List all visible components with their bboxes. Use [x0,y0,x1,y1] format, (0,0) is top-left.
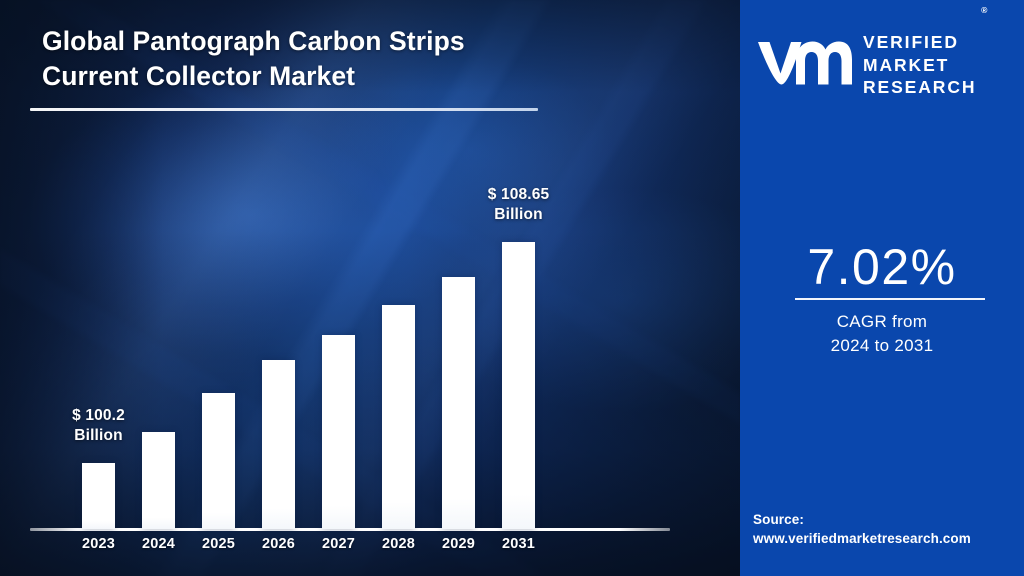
x-axis-tick-2029: 2029 [429,536,489,552]
value-label-2023: $ 100.2 Billion [37,406,161,447]
bar-2028 [382,305,415,529]
x-axis-tick-2023: 2023 [69,536,129,552]
bar-2026 [262,360,295,529]
bar-2031 [502,242,535,529]
brand-panel-text-layer: CAGR from 2024 to 2031 Source: www.verif… [740,0,1024,576]
bar-2027 [322,335,355,529]
bar-2025 [202,393,235,529]
bar-2023 [82,463,115,529]
bar-2029 [442,277,475,529]
cagr-caption: CAGR from 2024 to 2031 [740,310,1024,358]
x-axis-tick-2031: 2031 [489,536,549,552]
x-axis-tick-2026: 2026 [249,536,309,552]
chart-panel: Global Pantograph Carbon Strips Current … [0,0,740,576]
x-axis-tick-2027: 2027 [309,536,369,552]
source-text: Source: www.verifiedmarketresearch.com [753,511,1021,549]
bar-chart: 20232024202520262027202820292031$ 100.2 … [0,0,740,576]
market-infographic: Global Pantograph Carbon Strips Current … [0,0,1024,576]
x-axis-tick-2028: 2028 [369,536,429,552]
value-label-2031: $ 108.65 Billion [457,185,581,226]
x-axis-tick-2024: 2024 [129,536,189,552]
x-axis-tick-2025: 2025 [189,536,249,552]
